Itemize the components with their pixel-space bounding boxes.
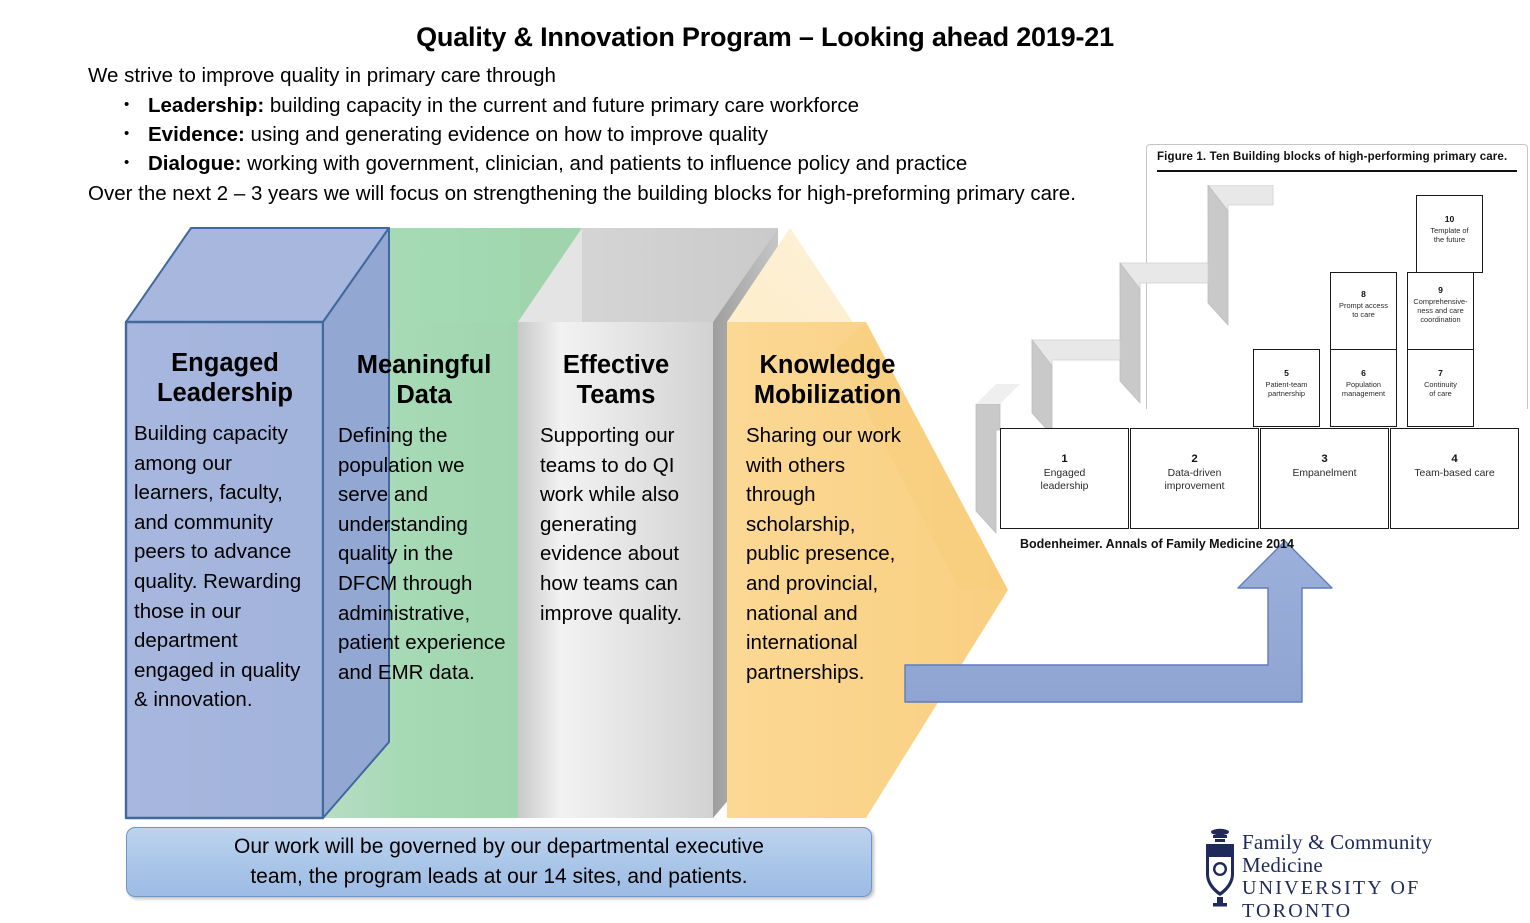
figure-credit: Bodenheimer. Annals of Family Medicine 2… <box>1020 537 1294 551</box>
pillar-engaged-leadership[interactable]: Engaged Leadership Building capacity amo… <box>134 348 316 715</box>
pillar-knowledge-mobilization[interactable]: Knowledge Mobilization Sharing our work … <box>746 350 909 687</box>
list-item: •Dialogue: working with government, clin… <box>118 150 1148 178</box>
bullet-text: using and generating evidence on how to … <box>245 123 768 146</box>
pillar-heading: Knowledge Mobilization <box>746 350 909 410</box>
uoft-crest-icon <box>1200 825 1240 909</box>
figure-block-4: 4 Team-based care <box>1390 428 1519 529</box>
pillar-heading: Meaningful Data <box>338 350 510 410</box>
figure-block-7: 7 Continuity of care <box>1407 349 1474 427</box>
figure-block-9: 9 Comprehensive- ness and care coordinat… <box>1407 272 1474 350</box>
figure-block-6: 6 Population management <box>1330 349 1397 427</box>
bullet-icon: • <box>124 149 129 177</box>
page-title: Quality & Innovation Program – Looking a… <box>0 22 1530 53</box>
list-item: •Leadership: building capacity in the cu… <box>118 92 1148 120</box>
intro-lead: We strive to improve quality in primary … <box>88 62 1148 90</box>
governance-banner-text: Our work will be governed by our departm… <box>194 832 804 892</box>
figure-block-5: 5 Patient-team partnership <box>1253 349 1320 427</box>
uoft-logo: Family & Community Medicine UNIVERSITY O… <box>1196 815 1516 905</box>
blue-bent-arrow <box>905 541 1332 702</box>
bullet-text: working with government, clinician, and … <box>241 152 967 175</box>
pillar-effective-teams[interactable]: Effective Teams Supporting our teams to … <box>540 350 692 628</box>
figure-block-1: 1 Engaged leadership <box>1000 428 1129 529</box>
bullet-text: building capacity in the current and fut… <box>264 94 859 117</box>
pillar-body: Supporting our teams to do QI work while… <box>540 421 692 628</box>
pillar-heading: Engaged Leadership <box>134 348 316 408</box>
list-item: •Evidence: using and generating evidence… <box>118 121 1148 149</box>
bullet-term: Evidence: <box>148 123 245 146</box>
pillar-body: Sharing our work with others through sch… <box>746 421 909 687</box>
pillar-heading: Effective Teams <box>540 350 692 410</box>
figure-caption: Figure 1. Ten Building blocks of high-pe… <box>1157 151 1519 163</box>
figure-block-8: 8 Prompt access to care <box>1330 272 1397 350</box>
bullet-term: Dialogue: <box>148 152 241 175</box>
bullet-term: Leadership: <box>148 94 264 117</box>
governance-banner[interactable]: Our work will be governed by our departm… <box>126 827 872 897</box>
intro-bullet-list: •Leadership: building capacity in the cu… <box>88 92 1148 178</box>
pillar-meaningful-data[interactable]: Meaningful Data Defining the population … <box>338 350 510 687</box>
figure-block-2: 2 Data-driven improvement <box>1130 428 1259 529</box>
uoft-wordmark: Family & Community Medicine UNIVERSITY O… <box>1242 831 1516 923</box>
pillar-body: Building capacity among our learners, fa… <box>134 419 316 715</box>
pillar-body: Defining the population we serve and und… <box>338 421 510 687</box>
figure-block-10: 10 Template of the future <box>1416 195 1483 273</box>
figure-rule-divider <box>1157 170 1517 172</box>
bullet-icon: • <box>124 91 129 119</box>
figure-block-3: 3 Empanelment <box>1260 428 1389 529</box>
bullet-icon: • <box>124 120 129 148</box>
